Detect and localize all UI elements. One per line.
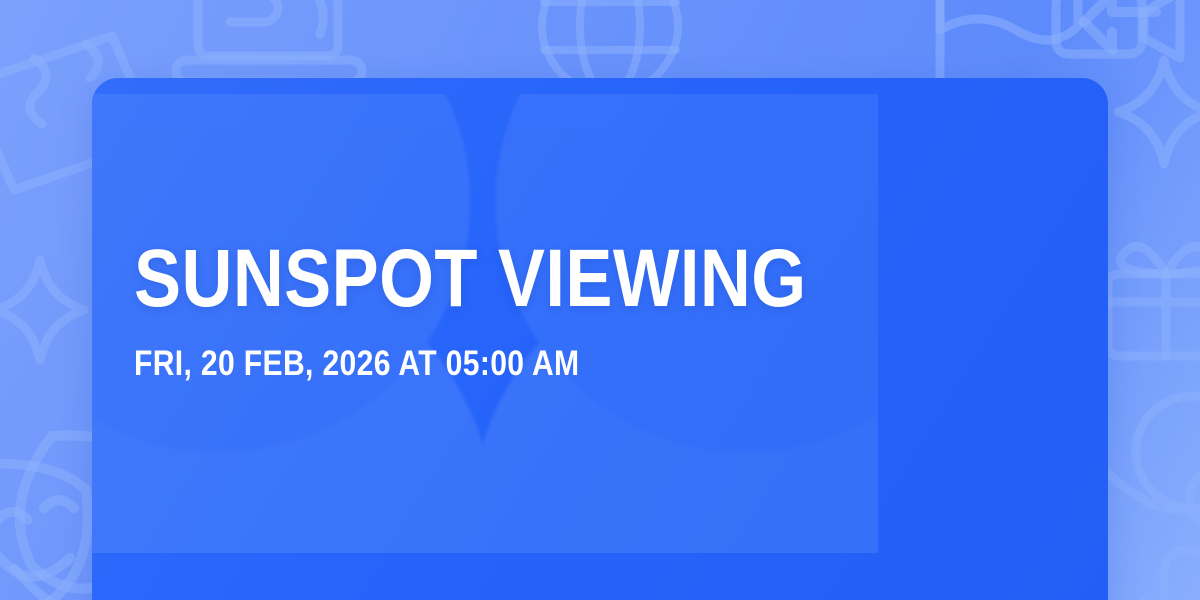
sparkle-icon bbox=[0, 250, 100, 370]
event-card: Sunspot Viewing Fri, 20 Feb, 2026 at 05:… bbox=[92, 78, 1108, 600]
arrow-icon bbox=[1078, 0, 1178, 58]
event-title: Sunspot Viewing bbox=[134, 239, 807, 319]
gift-icon bbox=[1096, 228, 1200, 368]
event-datetime: Fri, 20 Feb, 2026 at 05:00 AM bbox=[134, 346, 579, 381]
event-card-content: Sunspot Viewing Fri, 20 Feb, 2026 at 05:… bbox=[134, 78, 1066, 600]
microphone-icon bbox=[1128, 548, 1200, 600]
sparkle-icon bbox=[1110, 52, 1200, 172]
video-camera-icon bbox=[1046, 0, 1196, 86]
circle-arrow-icon bbox=[1130, 390, 1200, 540]
event-banner: Sunspot Viewing Fri, 20 Feb, 2026 at 05:… bbox=[0, 0, 1200, 600]
